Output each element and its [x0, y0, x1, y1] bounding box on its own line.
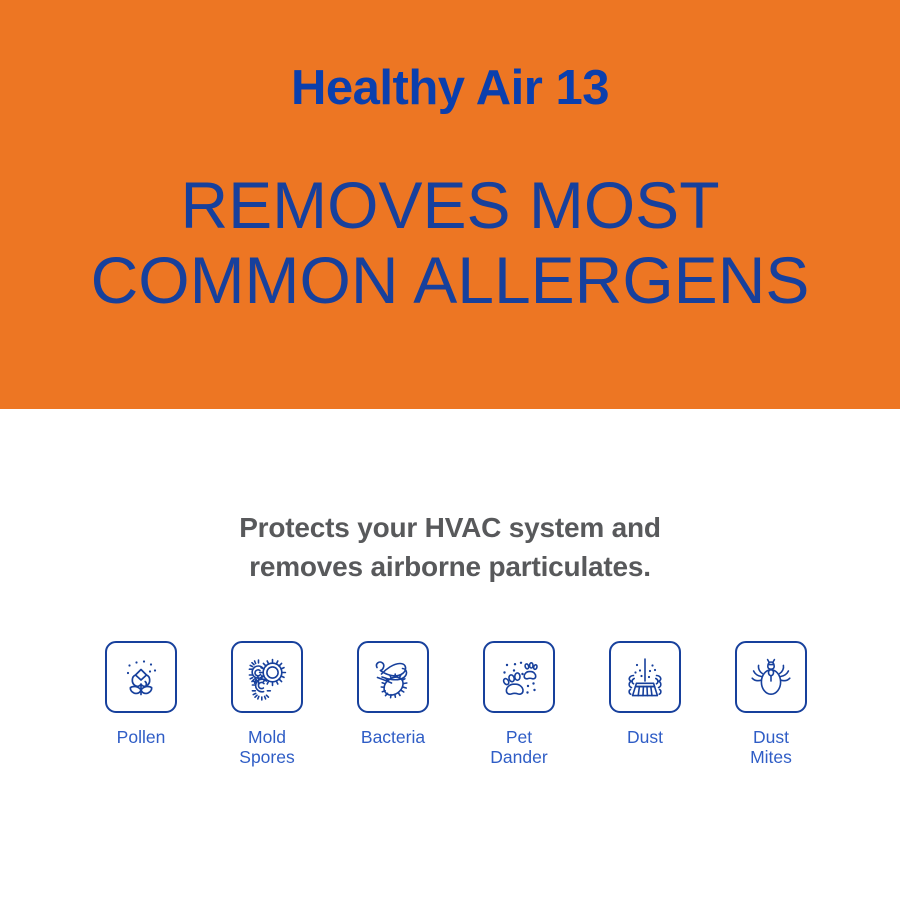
subtitle-line-1: Protects your HVAC system and	[0, 509, 900, 548]
dust-mite-icon	[747, 653, 795, 701]
allergen-label: Bacteria	[361, 727, 425, 747]
subtitle-line-2: removes airborne particulates.	[0, 548, 900, 587]
icon-box	[105, 641, 177, 713]
allergen-item-pet-dander: Pet Dander	[464, 641, 574, 768]
features-section: Protects your HVAC system and removes ai…	[0, 409, 900, 900]
flower-pollen-icon	[117, 653, 165, 701]
brand-title: Healthy Air 13	[0, 62, 900, 116]
allergen-icon-row: Pollen	[86, 641, 826, 768]
icon-box	[735, 641, 807, 713]
headline-line-2: COMMON ALLERGENS	[0, 243, 900, 318]
allergen-label: Dust	[627, 727, 663, 747]
allergen-item-dust: Dust	[590, 641, 700, 747]
headline-line-1: REMOVES MOST	[0, 168, 900, 243]
mold-spores-icon	[243, 653, 291, 701]
allergen-item-dust-mites: Dust Mites	[716, 641, 826, 768]
broom-dust-icon	[621, 653, 669, 701]
allergen-label: Pet Dander	[490, 727, 547, 768]
paw-print-dander-icon	[495, 653, 543, 701]
allergen-item-pollen: Pollen	[86, 641, 196, 747]
hero-headline: REMOVES MOST COMMON ALLERGENS	[0, 168, 900, 317]
marketing-panel: Healthy Air 13 REMOVES MOST COMMON ALLER…	[0, 0, 900, 900]
icon-box	[357, 641, 429, 713]
icon-box	[483, 641, 555, 713]
allergen-label: Mold Spores	[239, 727, 294, 768]
allergen-label: Pollen	[117, 727, 166, 747]
icon-box	[609, 641, 681, 713]
bacteria-icon	[369, 653, 417, 701]
allergen-label: Dust Mites	[750, 727, 792, 768]
allergen-item-bacteria: Bacteria	[338, 641, 448, 747]
section-subtitle: Protects your HVAC system and removes ai…	[0, 509, 900, 586]
hero-banner: Healthy Air 13 REMOVES MOST COMMON ALLER…	[0, 0, 900, 409]
icon-box	[231, 641, 303, 713]
allergen-item-mold-spores: Mold Spores	[212, 641, 322, 768]
